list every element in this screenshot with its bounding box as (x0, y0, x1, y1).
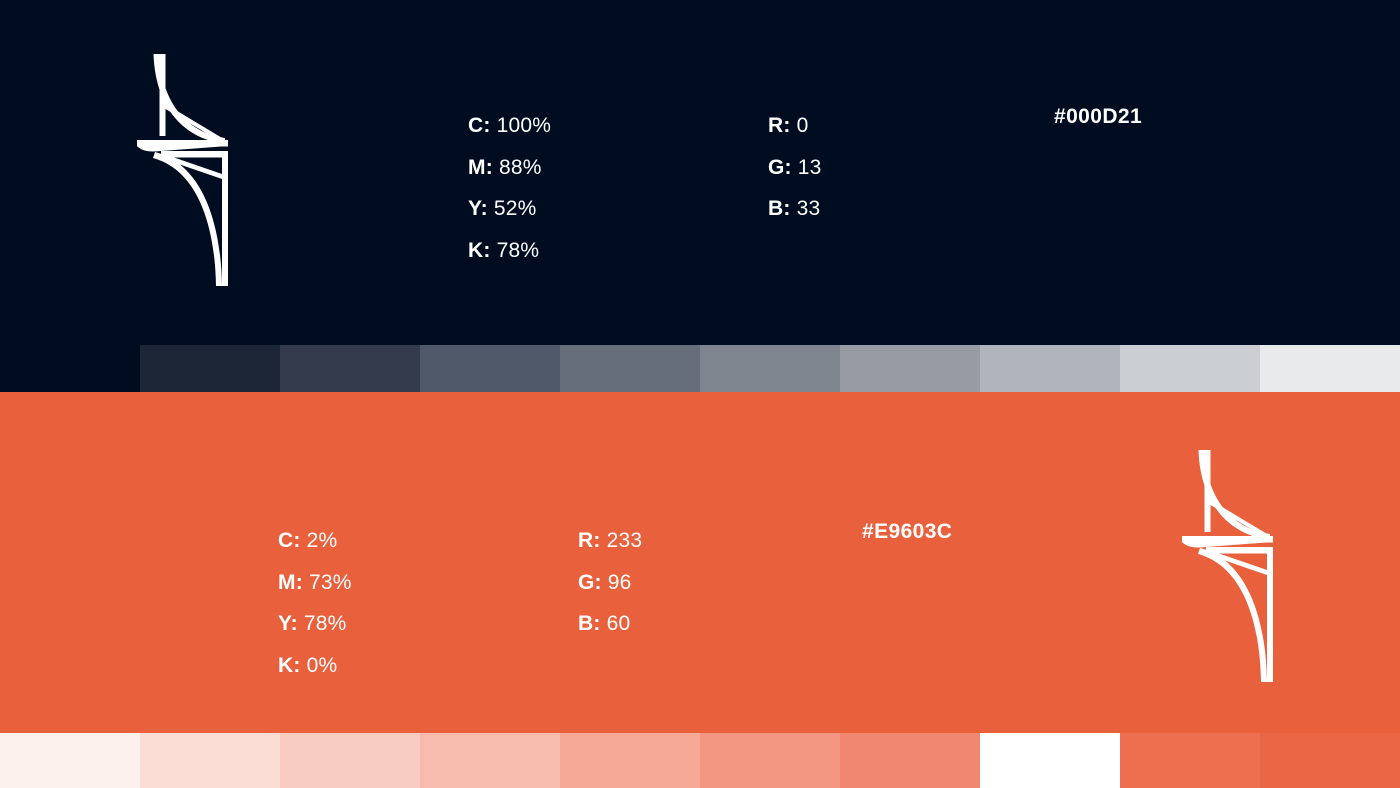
cmyk-key: K: (278, 654, 301, 677)
rgb-value: 0 (797, 114, 809, 137)
cmyk-value: 78% (304, 612, 347, 635)
navy-tint-swatch (1120, 345, 1260, 392)
brand-mark-logo-orange (1176, 448, 1294, 684)
orange-tint-swatch (560, 733, 700, 788)
rgb-value: 233 (607, 529, 643, 552)
orange-cmyk-row: C: 2% (278, 520, 352, 562)
orange-rgb-row: G: 96 (578, 562, 642, 604)
orange-cmyk-row: M: 73% (278, 562, 352, 604)
navy-cmyk-row: K: 78% (468, 230, 551, 272)
navy-cmyk-row: M: 88% (468, 147, 551, 189)
rgb-key: G: (578, 571, 602, 594)
navy-tint-swatch (700, 345, 840, 392)
color-palette-board: C: 100% M: 88% Y: 52% K: 78% R: 0 G: (0, 0, 1400, 788)
cmyk-value: 52% (494, 197, 537, 220)
cmyk-key: M: (278, 571, 303, 594)
navy-rgb-row: G: 13 (768, 147, 822, 189)
orange-tint-swatch (280, 733, 420, 788)
orange-tint-swatch (420, 733, 560, 788)
orange-tint-strip (0, 733, 1400, 788)
rgb-value: 13 (798, 156, 822, 179)
orange-rgb-values: R: 233 G: 96 B: 60 (578, 520, 642, 645)
navy-rgb-row: B: 33 (768, 188, 822, 230)
navy-tint-swatch (1260, 345, 1400, 392)
rgb-key: B: (768, 197, 791, 220)
navy-tint-strip (140, 345, 1400, 392)
navy-rgb-values: R: 0 G: 13 B: 33 (768, 105, 822, 230)
cmyk-key: Y: (468, 197, 488, 220)
navy-tint-swatch (980, 345, 1120, 392)
navy-tint-swatch (560, 345, 700, 392)
cmyk-value: 78% (497, 239, 540, 262)
orange-cmyk-row: K: 0% (278, 645, 352, 687)
cmyk-key: M: (468, 156, 493, 179)
cmyk-value: 100% (497, 114, 552, 137)
cmyk-key: C: (278, 529, 301, 552)
orange-tint-swatch (700, 733, 840, 788)
orange-tint-swatch (1260, 733, 1400, 788)
rgb-key: R: (578, 529, 601, 552)
orange-tint-swatch (980, 733, 1120, 788)
orange-cmyk-row: Y: 78% (278, 603, 352, 645)
brand-mark-logo-navy (131, 52, 249, 288)
cmyk-value: 0% (307, 654, 338, 677)
navy-rgb-row: R: 0 (768, 105, 822, 147)
rgb-key: R: (768, 114, 791, 137)
orange-tint-swatch (140, 733, 280, 788)
navy-cmyk-row: C: 100% (468, 105, 551, 147)
navy-cmyk-row: Y: 52% (468, 188, 551, 230)
orange-cmyk-values: C: 2% M: 73% Y: 78% K: 0% (278, 520, 352, 686)
orange-tint-swatch (1120, 733, 1260, 788)
navy-cmyk-values: C: 100% M: 88% Y: 52% K: 78% (468, 105, 551, 271)
orange-tint-swatch (840, 733, 980, 788)
rgb-value: 60 (607, 612, 631, 635)
navy-tint-swatch (840, 345, 980, 392)
rgb-key: B: (578, 612, 601, 635)
orange-rgb-row: R: 233 (578, 520, 642, 562)
orange-tint-swatch (0, 733, 140, 788)
navy-tint-swatch (140, 345, 280, 392)
navy-tint-swatch (280, 345, 420, 392)
cmyk-value: 88% (499, 156, 542, 179)
rgb-value: 33 (797, 197, 821, 220)
navy-hex-value: #000D21 (1054, 105, 1142, 129)
orange-rgb-row: B: 60 (578, 603, 642, 645)
rgb-key: G: (768, 156, 792, 179)
cmyk-key: C: (468, 114, 491, 137)
cmyk-value: 2% (307, 529, 338, 552)
navy-color-panel: C: 100% M: 88% Y: 52% K: 78% R: 0 G: (0, 0, 1400, 392)
cmyk-key: Y: (278, 612, 298, 635)
cmyk-key: K: (468, 239, 491, 262)
orange-hex-value: #E9603C (862, 520, 952, 544)
rgb-value: 96 (608, 571, 632, 594)
cmyk-value: 73% (309, 571, 352, 594)
navy-tint-swatch (420, 345, 560, 392)
